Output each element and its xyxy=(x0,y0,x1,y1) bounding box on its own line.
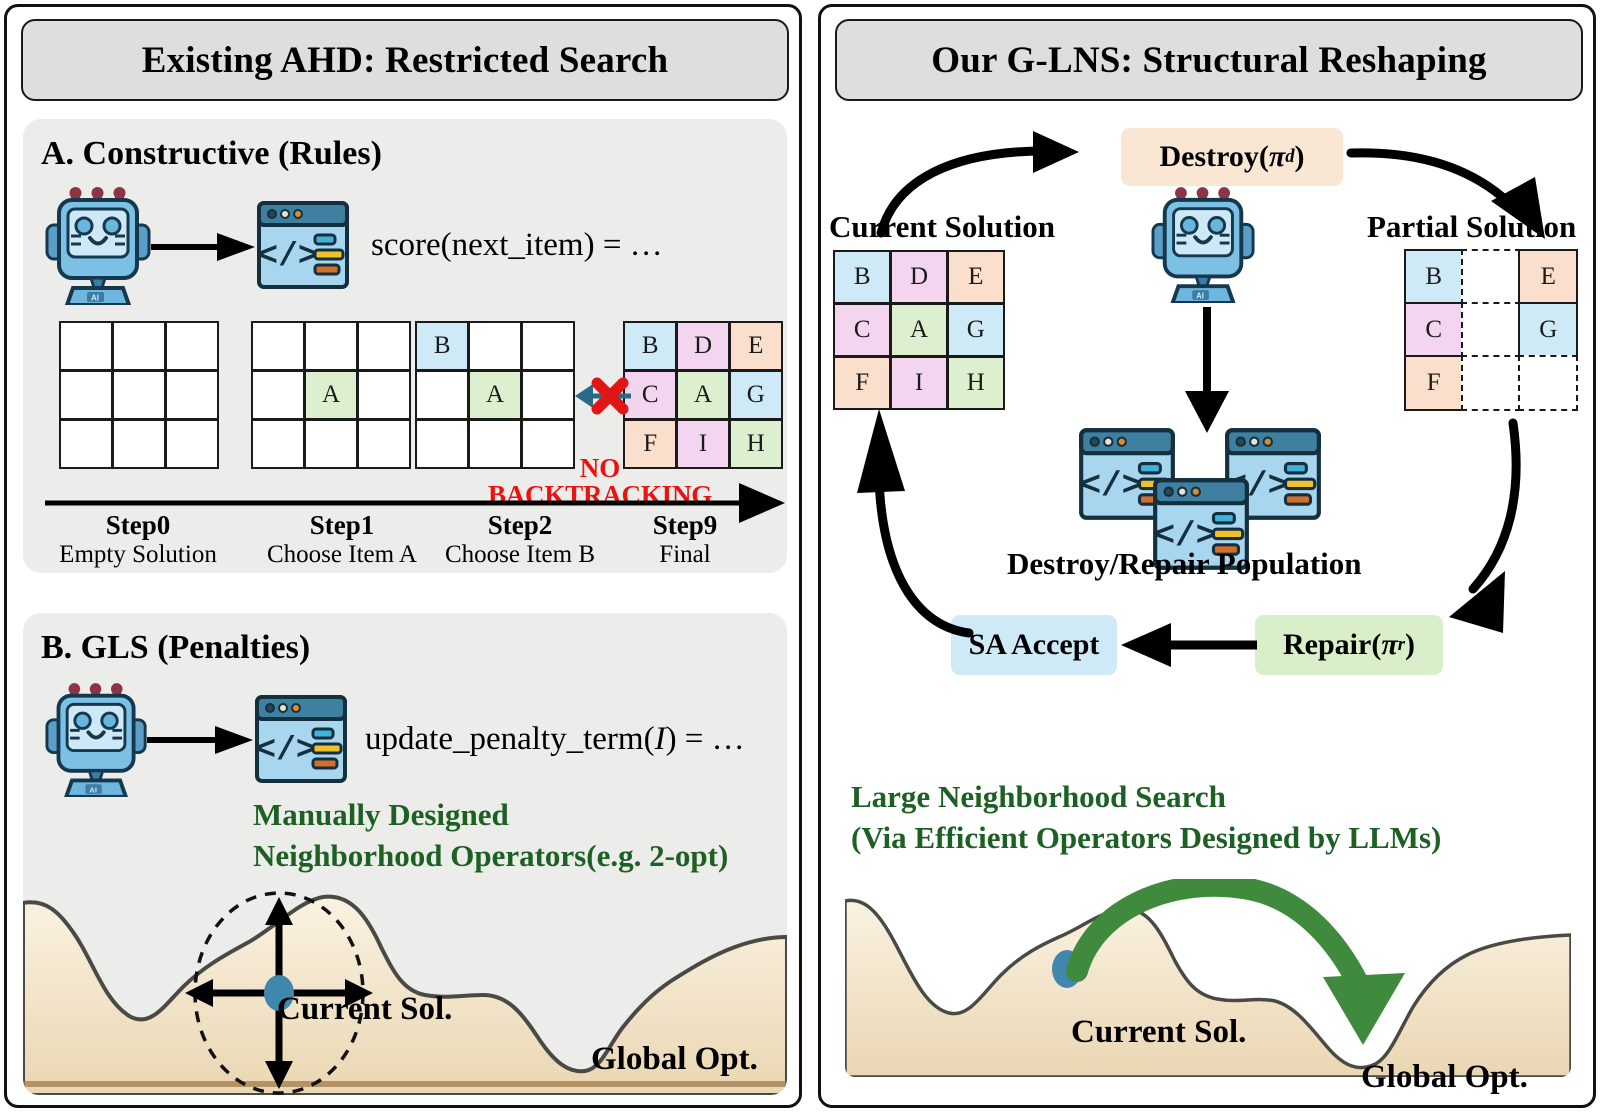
grid-cell: A xyxy=(470,372,520,418)
svg-text:</>: </> xyxy=(1080,467,1142,506)
arrow-robot-to-code-a xyxy=(151,232,259,262)
repair-label-sub: r xyxy=(1398,634,1405,656)
grid-cell xyxy=(417,372,467,418)
grid-cell: E xyxy=(731,323,781,369)
green-caption-left-line1: Manually Designed xyxy=(253,795,728,836)
step0-grid xyxy=(59,321,219,469)
grid-cell xyxy=(61,323,111,369)
grid-cell: G xyxy=(731,372,781,418)
grid-cell xyxy=(306,323,356,369)
grid-cell xyxy=(253,323,303,369)
svg-text:AI: AI xyxy=(91,294,99,303)
grid-cell xyxy=(523,323,573,369)
grid-cell xyxy=(167,323,217,369)
grid-cell: I xyxy=(892,358,946,408)
grid-cell xyxy=(359,372,409,418)
grid-cell xyxy=(114,372,164,418)
code-window-icon: </> xyxy=(253,691,349,787)
green-caption-left: Manually Designed Neighborhood Operators… xyxy=(253,795,728,877)
green-caption-right-line2: (Via Efficient Operators Designed by LLM… xyxy=(851,818,1441,859)
svg-text:AI: AI xyxy=(1196,291,1204,300)
destroy-label-suffix: ) xyxy=(1295,140,1305,174)
destroy-label-prefix: Destroy( xyxy=(1159,140,1268,174)
step0-sub: Empty Solution xyxy=(29,541,247,570)
grid-cell: D xyxy=(678,323,728,369)
arrow-partial-to-repair xyxy=(1407,421,1537,641)
arrow-robot-to-population xyxy=(1183,307,1231,435)
grid-cell: H xyxy=(949,358,1003,408)
step-label-0: Step0 Empty Solution xyxy=(29,511,247,569)
arrow-repair-to-sa xyxy=(1121,623,1257,667)
grid-cell: F xyxy=(835,358,889,408)
grid-cell xyxy=(167,421,217,467)
grid-cell xyxy=(114,421,164,467)
grid-cell: B xyxy=(417,323,467,369)
penalty-formula: update_penalty_term(I) = … xyxy=(365,721,745,758)
red-x-icon xyxy=(589,375,631,422)
no-backtracking-line1: NO xyxy=(475,455,725,482)
grid-cell: H xyxy=(731,421,781,467)
partial-solution-label: Partial Solution xyxy=(1367,209,1576,245)
repair-label-prefix: Repair( xyxy=(1283,628,1381,662)
right-global-opt-label: Global Opt. xyxy=(1361,1059,1528,1096)
grid-cell-empty xyxy=(1461,355,1521,411)
left-panel-header: Existing AHD: Restricted Search xyxy=(21,19,789,101)
left-global-opt-label: Global Opt. xyxy=(591,1041,758,1078)
grid-cell xyxy=(61,372,111,418)
repair-label-pi: π xyxy=(1381,628,1397,662)
grid-cell-empty xyxy=(1518,355,1578,411)
step1-grid: A xyxy=(251,321,411,469)
grid-cell: A xyxy=(678,372,728,418)
grid-cell: C xyxy=(1404,302,1464,358)
grid-cell: A xyxy=(306,372,356,418)
grid-cell: F xyxy=(1404,355,1464,411)
grid-cell: G xyxy=(1518,302,1578,358)
penalty-formula-prefix: update_penalty_term( xyxy=(365,721,655,757)
grid-cell xyxy=(470,323,520,369)
green-caption-right-line1: Large Neighborhood Search xyxy=(851,777,1441,818)
grid-cell xyxy=(114,323,164,369)
grid-cell: B xyxy=(835,252,889,302)
svg-text:</>: </> xyxy=(258,238,317,275)
score-formula: score(next_item) = … xyxy=(371,227,663,264)
step9-grid: BDECAGFIH xyxy=(623,321,783,469)
grid-cell xyxy=(253,421,303,467)
ai-robot-icon: AI xyxy=(45,187,153,305)
grid-cell: C xyxy=(835,305,889,355)
grid-cell xyxy=(417,421,467,467)
right-panel: Our G-LNS: Structural Reshaping Destroy(… xyxy=(818,4,1596,1108)
grid-cell xyxy=(253,372,303,418)
grid-cell: C xyxy=(625,372,675,418)
grid-cell xyxy=(61,421,111,467)
step9-sub: Final xyxy=(595,541,775,570)
grid-cell: E xyxy=(949,252,1003,302)
destroy-label-sub: d xyxy=(1285,146,1294,168)
svg-text:AI: AI xyxy=(89,785,97,794)
grid-cell xyxy=(167,372,217,418)
grid-cell-empty xyxy=(1461,249,1521,305)
penalty-formula-suffix: ) = … xyxy=(666,721,745,757)
step9-title: Step9 xyxy=(595,511,775,541)
section-b-title: B. GLS (Penalties) xyxy=(41,629,310,667)
step-label-9: Step9 Final xyxy=(595,511,775,569)
destroy-box[interactable]: Destroy(πd) xyxy=(1121,128,1343,186)
grid-cell xyxy=(523,372,573,418)
right-current-sol-label: Current Sol. xyxy=(1071,1014,1246,1051)
penalty-formula-var: I xyxy=(655,721,666,757)
destroy-label-pi: π xyxy=(1269,140,1285,174)
step0-title: Step0 xyxy=(29,511,247,541)
current-solution-label: Current Solution xyxy=(829,209,1055,245)
grid-cell-empty xyxy=(1461,302,1521,358)
partial-solution-grid: BECGF xyxy=(1405,250,1577,410)
step2-grid: BA xyxy=(415,321,575,469)
left-current-sol-label: Current Sol. xyxy=(277,991,452,1028)
grid-cell: A xyxy=(892,305,946,355)
population-label: Destroy/Repair Population xyxy=(1007,546,1362,582)
current-solution-grid: BDECAGFIH xyxy=(833,250,1005,410)
section-constructive: A. Constructive (Rules) xyxy=(23,119,787,573)
ai-robot-icon: AI xyxy=(1151,187,1257,303)
grid-cell xyxy=(359,421,409,467)
section-a-title: A. Constructive (Rules) xyxy=(41,135,382,173)
grid-cell: B xyxy=(1404,249,1464,305)
grid-cell: E xyxy=(1518,249,1578,305)
green-caption-left-line2: Neighborhood Operators(e.g. 2-opt) xyxy=(253,836,728,877)
section-gls: B. GLS (Penalties) xyxy=(23,613,787,1095)
grid-cell: B xyxy=(625,323,675,369)
right-panel-header: Our G-LNS: Structural Reshaping xyxy=(835,19,1583,101)
grid-cell: D xyxy=(892,252,946,302)
grid-cell xyxy=(359,323,409,369)
left-panel: Existing AHD: Restricted Search A. Const… xyxy=(4,4,802,1108)
grid-cell xyxy=(306,421,356,467)
arrow-sa-to-current xyxy=(857,407,997,637)
svg-text:</>: </> xyxy=(256,732,315,769)
code-window-icon: </> xyxy=(255,197,351,293)
ai-robot-icon: AI xyxy=(45,683,149,797)
green-caption-right: Large Neighborhood Search (Via Efficient… xyxy=(851,777,1441,859)
grid-cell: G xyxy=(949,305,1003,355)
arrow-robot-to-code-b xyxy=(147,725,257,755)
